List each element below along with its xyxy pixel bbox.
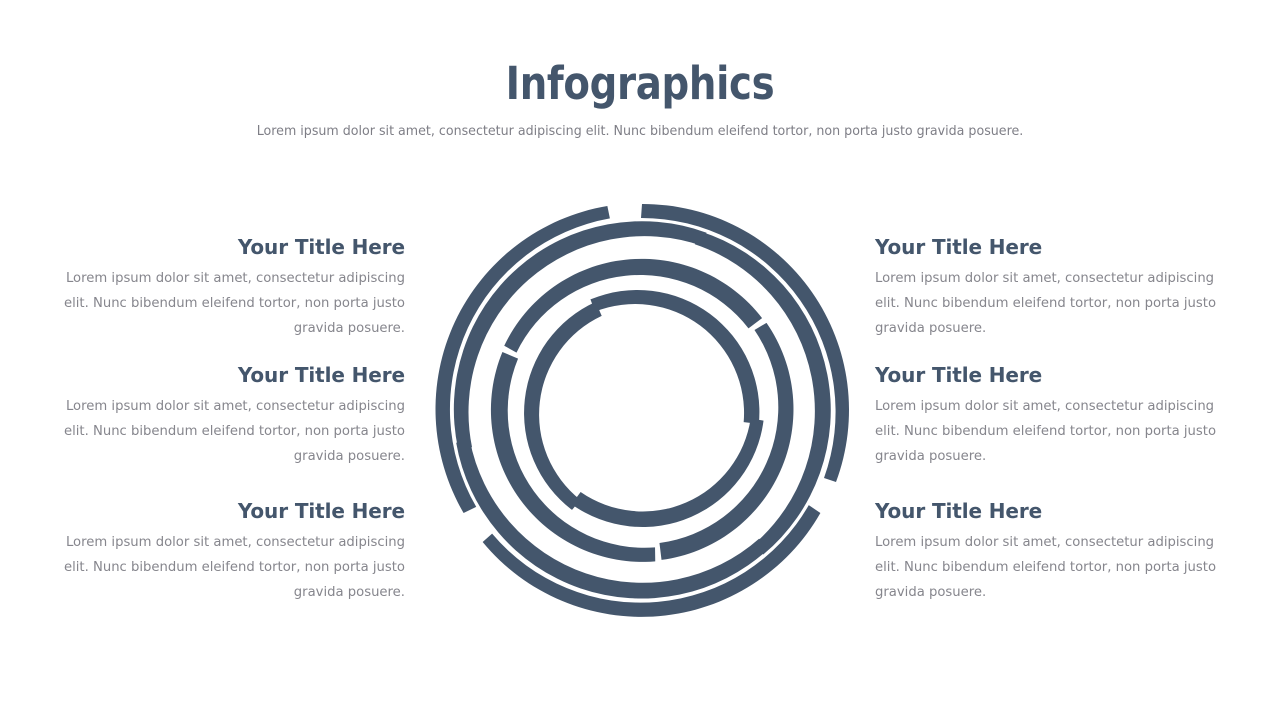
right-block-3-title: Your Title Here [875, 498, 1242, 524]
swirl-arc-core-3 [590, 250, 775, 467]
swirl-graphic-container [424, 192, 860, 628]
left-block-1-body: Lorem ipsum dolor sit amet, consectetur … [38, 266, 405, 341]
page-subtitle: Lorem ipsum dolor sit amet, consectetur … [45, 121, 1235, 141]
left-block-3[interactable]: Your Title Here Lorem ipsum dolor sit am… [38, 498, 405, 605]
swirl-spiral-icon [424, 192, 860, 628]
left-block-3-title: Your Title Here [38, 498, 405, 524]
left-block-2-title: Your Title Here [38, 362, 405, 388]
left-block-2[interactable]: Your Title Here Lorem ipsum dolor sit am… [38, 362, 405, 469]
right-block-3-body: Lorem ipsum dolor sit amet, consectetur … [875, 530, 1242, 605]
right-block-1-title: Your Title Here [875, 234, 1242, 260]
left-block-2-body: Lorem ipsum dolor sit amet, consectetur … [38, 394, 405, 469]
right-block-1[interactable]: Your Title Here Lorem ipsum dolor sit am… [875, 234, 1242, 341]
page-title: Infographics [90, 58, 1191, 110]
slide-header: Infographics Lorem ipsum dolor sit amet,… [0, 58, 1280, 141]
right-block-2-body: Lorem ipsum dolor sit amet, consectetur … [875, 394, 1242, 469]
right-block-2[interactable]: Your Title Here Lorem ipsum dolor sit am… [875, 362, 1242, 469]
right-block-2-title: Your Title Here [875, 362, 1242, 388]
left-block-1-title: Your Title Here [38, 234, 405, 260]
right-block-1-body: Lorem ipsum dolor sit amet, consectetur … [875, 266, 1242, 341]
right-block-3[interactable]: Your Title Here Lorem ipsum dolor sit am… [875, 498, 1242, 605]
left-block-3-body: Lorem ipsum dolor sit amet, consectetur … [38, 530, 405, 605]
left-block-1[interactable]: Your Title Here Lorem ipsum dolor sit am… [38, 234, 405, 341]
infographic-slide: Infographics Lorem ipsum dolor sit amet,… [0, 0, 1280, 720]
